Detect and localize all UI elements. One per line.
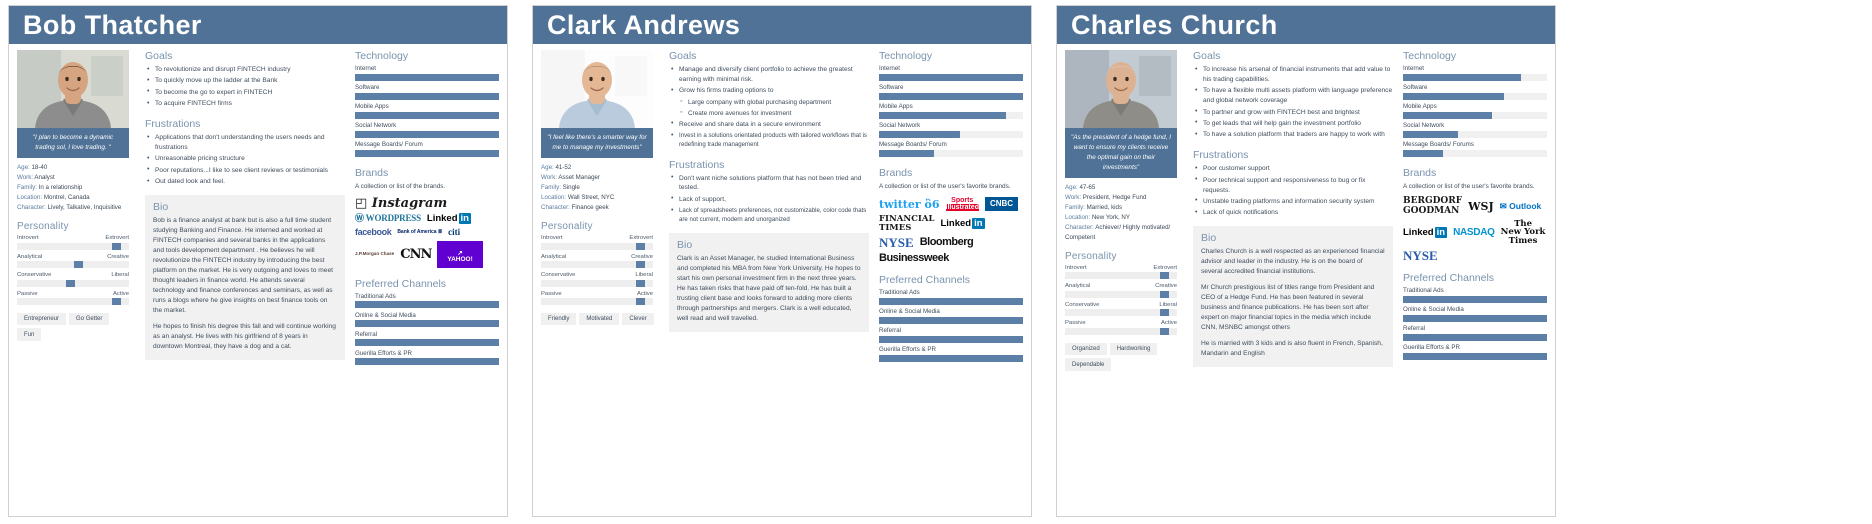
technology-meter-track xyxy=(355,74,499,81)
channel-meter: Guerilla Efforts & PR xyxy=(355,350,499,366)
channel-meter: Guerilla Efforts & PR xyxy=(879,346,1023,362)
channel-meter-track xyxy=(879,317,1023,324)
personality-left-label: Analytical xyxy=(541,254,566,260)
personality-trait[interactable]: PassiveActive xyxy=(1065,320,1177,335)
trait-tag[interactable]: Organized xyxy=(1065,343,1107,355)
goals-list-item: To have a flexible multi assets platform… xyxy=(1195,86,1393,106)
channel-meter-label: Traditional Ads xyxy=(355,293,499,300)
frustrations-list-item: Lack of spreadsheets preferences, not cu… xyxy=(671,206,869,224)
personality-track[interactable] xyxy=(1065,272,1177,279)
technology-meter-track xyxy=(1403,74,1547,81)
technology-meter-fill xyxy=(879,131,960,138)
persona-body: "As the president of a hedge fund, I wan… xyxy=(1057,44,1555,371)
personality-trait[interactable]: ConservativeLiberal xyxy=(1065,302,1177,317)
right-column: TechnologyInternetSoftwareMobile AppsSoc… xyxy=(1401,50,1547,371)
channel-meter-label: Guerilla Efforts & PR xyxy=(355,350,499,357)
personality-right-label: Liberal xyxy=(1159,302,1177,308)
brands-description: A collection or list of the user's favor… xyxy=(879,182,1023,192)
goals-list-item: To become the go to expert in FINTECH xyxy=(147,88,345,98)
section-title-bio: Bio xyxy=(1201,232,1385,244)
technology-meter: Mobile Apps xyxy=(1403,103,1547,119)
demographics-list: Age: 41-52Work: Asset ManagerFamily: Sin… xyxy=(541,163,659,213)
section-title-personality: Personality xyxy=(17,221,135,232)
channel-meter-track xyxy=(879,355,1023,362)
personality-trait[interactable]: IntrovertExtrovert xyxy=(541,235,653,250)
demographic-value: Wall Street, NYC xyxy=(568,194,615,201)
channel-meter-label: Referral xyxy=(879,327,1023,334)
brand-financialtimes: FINANCIALTIMES xyxy=(879,215,934,232)
personality-track[interactable] xyxy=(17,298,129,305)
trait-tag[interactable]: Clever xyxy=(622,313,653,325)
demographic-value: 47-65 xyxy=(1079,184,1095,191)
trait-tag[interactable]: Hardworking xyxy=(1110,343,1158,355)
personality-trait[interactable]: AnalyticalCreative xyxy=(17,254,129,269)
personality-trait-labels: AnalyticalCreative xyxy=(17,254,129,260)
channel-meter-label: Referral xyxy=(1403,325,1547,332)
channel-meter-fill xyxy=(879,317,1023,324)
section-title-technology: Technology xyxy=(1403,50,1547,62)
personality-left-label: Introvert xyxy=(1065,265,1087,271)
demographic-value: In a relationship xyxy=(39,184,83,191)
goals-list: To revolutionize and disrupt FINTECH ind… xyxy=(147,65,345,109)
channel-meter-track xyxy=(355,320,499,327)
technology-meter-label: Software xyxy=(879,84,1023,91)
persona-board: Bob Thatcher"I plan to become a dynamic … xyxy=(0,0,1872,524)
personality-trait-labels: ConservativeLiberal xyxy=(541,272,653,278)
demographic-key: Work: xyxy=(1065,194,1083,201)
frustrations-list-item: Out dated look and feel. xyxy=(147,177,345,187)
personality-knob[interactable] xyxy=(74,261,83,268)
demographic-value: Montrel, Canada xyxy=(44,194,90,201)
personality-track[interactable] xyxy=(17,280,129,287)
frustrations-list-item: Lack of support, xyxy=(671,195,869,205)
channel-meter: Guerilla Efforts & PR xyxy=(1403,344,1547,360)
personality-left-label: Passive xyxy=(17,291,38,297)
technology-meter-fill xyxy=(879,74,1023,81)
frustrations-list-item: Poor reputations...I like to see client … xyxy=(147,166,345,176)
technology-meter: Social Network xyxy=(1403,122,1547,138)
demographic-key: Family: xyxy=(17,184,39,191)
personality-trait-labels: IntrovertExtrovert xyxy=(541,235,653,241)
goals-list-item: To quickly move up the ladder at the Ban… xyxy=(147,76,345,86)
goals-list-item: To have a solution platform that traders… xyxy=(1195,130,1393,140)
section-title-brands: Brands xyxy=(1403,167,1547,179)
demographic-key: Character: xyxy=(1065,224,1095,231)
personality-right-label: Active xyxy=(1161,320,1177,326)
technology-meter-fill xyxy=(355,131,499,138)
trait-tag[interactable]: Dependable xyxy=(1065,358,1111,370)
demographic-key: Family: xyxy=(1065,204,1087,211)
demographic-key: Age: xyxy=(541,164,555,171)
channel-meter: Online & Social Media xyxy=(355,312,499,328)
brand-wsj: WSJ xyxy=(1468,201,1494,212)
persona-quote: "I plan to become a dynamic trading sol,… xyxy=(17,128,129,158)
brand-bergdorfgoodman: BERGDORFGOODMAN xyxy=(1403,197,1462,216)
channel-meter-label: Online & Social Media xyxy=(355,312,499,319)
bio-paragraph: Mr Church prestigious list of titles ran… xyxy=(1201,283,1385,333)
technology-meter-label: Software xyxy=(1403,84,1547,91)
technology-meter: Message Boards/ Forum xyxy=(355,141,499,157)
photo-illustration xyxy=(17,50,129,128)
technology-meter: Internet xyxy=(879,65,1023,81)
photo-illustration xyxy=(541,50,653,128)
technology-meter-fill xyxy=(879,93,1023,100)
personality-right-label: Active xyxy=(113,291,129,297)
bio-box: BioBob is a finance analyst at bank but … xyxy=(145,195,345,360)
technology-meter: Internet xyxy=(1403,65,1547,81)
brand-outlook: ✉ Outlook xyxy=(1500,202,1542,211)
personality-trait[interactable]: PassiveActive xyxy=(541,291,653,306)
demographic-value: 41-52 xyxy=(555,164,571,171)
personality-trait[interactable]: PassiveActive xyxy=(17,291,129,306)
channel-meter-track xyxy=(1403,315,1547,322)
brands-grid: ◰ InstagramⓌ WORDPRESSLinkedinfacebookBa… xyxy=(355,197,499,268)
personality-track[interactable] xyxy=(541,243,653,250)
persona-card-1: Bob Thatcher"I plan to become a dynamic … xyxy=(8,5,508,517)
channel-meter-label: Guerilla Efforts & PR xyxy=(879,346,1023,353)
demographic-row: Age: 18-40 xyxy=(17,163,135,173)
technology-meter-track xyxy=(355,131,499,138)
frustrations-list-item: Lack of quick notifications xyxy=(1195,208,1393,218)
brand-instagram: ◰ Instagram xyxy=(355,197,447,210)
demographic-value: President, Hedge Fund xyxy=(1083,194,1147,201)
personality-trait-labels: AnalyticalCreative xyxy=(1065,283,1177,289)
demographic-key: Character: xyxy=(541,204,572,211)
technology-meter-label: Message Boards/ Forum xyxy=(879,141,1023,148)
personality-knob[interactable] xyxy=(636,280,645,287)
personality-trait[interactable]: ConservativeLiberal xyxy=(17,272,129,287)
personality-left-label: Conservative xyxy=(1065,302,1099,308)
persona-quote: "I feel like there's a smarter way for m… xyxy=(541,128,653,158)
technology-meter: Message Boards/ Forum xyxy=(879,141,1023,157)
goals-list-item: To revolutionize and disrupt FINTECH ind… xyxy=(147,65,345,75)
personality-knob[interactable] xyxy=(1160,291,1169,298)
brand-yahoo: ↗YAHOO! xyxy=(437,241,482,268)
personality-trait[interactable]: ConservativeLiberal xyxy=(541,272,653,287)
personality-track[interactable] xyxy=(541,298,653,305)
personality-knob[interactable] xyxy=(636,298,645,305)
demographic-key: Location: xyxy=(541,194,568,201)
section-title-frustrations: Frustrations xyxy=(145,118,345,130)
section-title-technology: Technology xyxy=(879,50,1023,62)
personality-right-label: Creative xyxy=(107,254,129,260)
personality-knob[interactable] xyxy=(112,243,121,250)
personality-right-label: Extrovert xyxy=(105,235,129,241)
personality-knob[interactable] xyxy=(1160,309,1169,316)
trait-tag[interactable]: Motivated xyxy=(579,313,619,325)
demographic-value: Single xyxy=(563,184,580,191)
goals-list-item: Invest in a solutions orientated product… xyxy=(671,131,869,149)
channel-meter: Referral xyxy=(1403,325,1547,341)
personality-right-label: Liberal xyxy=(635,272,653,278)
technology-meter-label: Software xyxy=(355,84,499,91)
right-column: TechnologyInternetSoftwareMobile AppsSoc… xyxy=(877,50,1023,365)
channel-meter-label: Traditional Ads xyxy=(879,289,1023,296)
section-title-technology: Technology xyxy=(355,50,499,62)
trait-tag[interactable]: Fun xyxy=(17,328,41,340)
personality-right-label: Liberal xyxy=(111,272,129,278)
personality-left-label: Conservative xyxy=(541,272,575,278)
technology-meter-fill xyxy=(1403,131,1458,138)
personality-knob[interactable] xyxy=(636,261,645,268)
frustrations-list-item: Poor technical support and responsivenes… xyxy=(1195,176,1393,196)
personality-knob[interactable] xyxy=(636,243,645,250)
technology-meter: Internet xyxy=(355,65,499,81)
section-title-frustrations: Frustrations xyxy=(669,159,869,171)
technology-meter-track xyxy=(879,112,1023,119)
channel-meter: Referral xyxy=(355,331,499,347)
goals-list-item: Grow his firms trading options to xyxy=(671,86,869,96)
bio-box: BioClark is an Asset Manager, he studied… xyxy=(669,233,869,332)
technology-meter-fill xyxy=(355,93,499,100)
personality-left-label: Conservative xyxy=(17,272,51,278)
brand-cnn: CNN xyxy=(400,248,431,261)
personality-track[interactable] xyxy=(1065,328,1177,335)
frustrations-list-item: Don't want niche solutions platform that… xyxy=(671,174,869,194)
demographic-row: Family: Married, kids xyxy=(1065,203,1183,213)
persona-photo xyxy=(541,50,653,128)
persona-header: Bob Thatcher xyxy=(9,6,507,44)
frustrations-list-item: Unreasonable pricing structure xyxy=(147,154,345,164)
technology-meter-fill xyxy=(1403,93,1504,100)
personality-track[interactable] xyxy=(17,243,129,250)
demographic-value: Asset Manager xyxy=(558,174,600,181)
demographic-row: Age: 41-52 xyxy=(541,163,659,173)
persona-header: Charles Church xyxy=(1057,6,1555,44)
technology-meter-label: Mobile Apps xyxy=(1403,103,1547,110)
left-column: "I plan to become a dynamic trading sol,… xyxy=(17,50,135,369)
brand-sportsillustrated: SportsIllustrated xyxy=(946,197,979,211)
section-title-brands: Brands xyxy=(355,167,499,179)
section-title-personality: Personality xyxy=(541,221,659,232)
demographic-row: Age: 47-65 xyxy=(1065,183,1183,193)
brand-bloomberg: Bloomberg xyxy=(920,237,974,248)
personality-left-label: Analytical xyxy=(1065,283,1090,289)
left-column: "I feel like there's a smarter way for m… xyxy=(541,50,659,365)
demographic-row: Location: New York, NY xyxy=(1065,213,1183,223)
persona-body: "I plan to become a dynamic trading sol,… xyxy=(9,44,507,369)
personality-knob[interactable] xyxy=(1160,272,1169,279)
technology-meter: Social Network xyxy=(355,122,499,138)
channel-meter-track xyxy=(879,336,1023,343)
brand-nyse: NYSE xyxy=(879,236,914,249)
demographic-key: Work: xyxy=(541,174,558,181)
middle-column: GoalsManage and diversify client portfol… xyxy=(659,50,877,365)
section-title-personality: Personality xyxy=(1065,251,1183,262)
brand-cnbc: CNBC xyxy=(985,197,1018,211)
technology-meter-label: Internet xyxy=(355,65,499,72)
technology-meter-label: Mobile Apps xyxy=(879,103,1023,110)
channel-meter-track xyxy=(355,301,499,308)
channel-meter-track xyxy=(1403,296,1547,303)
frustrations-list: Applications that don't understanding th… xyxy=(147,133,345,187)
demographics-list: Age: 47-65Work: President, Hedge FundFam… xyxy=(1065,183,1183,243)
personality-track[interactable] xyxy=(1065,291,1177,298)
trait-tag[interactable]: Go Getter xyxy=(69,313,109,325)
section-title-preferred-channels: Preferred Channels xyxy=(355,278,499,290)
goals-list-item: To acquire FINTECH firms xyxy=(147,99,345,109)
personality-trait-labels: ConservativeLiberal xyxy=(1065,302,1177,308)
goals-list-item: Create more avenues for investment xyxy=(680,109,869,119)
personality-left-label: Passive xyxy=(1065,320,1086,326)
channel-meter-label: Online & Social Media xyxy=(1403,306,1547,313)
technology-meter-fill xyxy=(1403,74,1521,81)
demographic-value: Lively, Talkative, Inquisitive xyxy=(48,204,122,211)
personality-trait[interactable]: AnalyticalCreative xyxy=(1065,283,1177,298)
technology-meter-fill xyxy=(355,74,499,81)
channel-meter-fill xyxy=(355,320,499,327)
personality-trait-labels: AnalyticalCreative xyxy=(541,254,653,260)
personality-right-label: Active xyxy=(637,291,653,297)
technology-meter-track xyxy=(1403,150,1547,157)
demographic-key: Character: xyxy=(17,204,48,211)
brands-grid: BERGDORFGOODMANWSJ✉ OutlookLinkedinNASDA… xyxy=(1403,197,1547,262)
personality-track[interactable] xyxy=(541,280,653,287)
demographics-list: Age: 18-40Work: AnalystFamily: In a rela… xyxy=(17,163,135,213)
technology-meter-track xyxy=(355,93,499,100)
section-title-goals: Goals xyxy=(1193,50,1393,62)
left-column: "As the president of a hedge fund, I wan… xyxy=(1065,50,1183,371)
channel-meter-fill xyxy=(1403,315,1547,322)
goals-list: To increase his arsenal of financial ins… xyxy=(1195,65,1393,140)
channel-meter-track xyxy=(1403,353,1547,360)
technology-meter: Software xyxy=(1403,84,1547,100)
personality-trait[interactable]: AnalyticalCreative xyxy=(541,254,653,269)
personality-trait[interactable]: IntrovertExtrovert xyxy=(1065,265,1177,280)
bio-paragraph: Bob is a finance analyst at bank but is … xyxy=(153,216,337,316)
persona-body: "I feel like there's a smarter way for m… xyxy=(533,44,1031,365)
trait-tag[interactable]: Friendly xyxy=(541,313,576,325)
brands-description: A collection or list of the brands. xyxy=(355,182,499,192)
personality-left-label: Introvert xyxy=(541,235,563,241)
frustrations-list-item: Poor customer support xyxy=(1195,164,1393,174)
persona-photo xyxy=(17,50,129,128)
goals-list-item: To increase his arsenal of financial ins… xyxy=(1195,65,1393,85)
middle-column: GoalsTo increase his arsenal of financia… xyxy=(1183,50,1401,371)
demographic-value: New York, NY xyxy=(1092,214,1130,221)
technology-meter-label: Message Boards/ Forum xyxy=(355,141,499,148)
personality-knob[interactable] xyxy=(66,280,75,287)
persona-name: Bob Thatcher xyxy=(23,12,202,39)
technology-meter-label: Internet xyxy=(1403,65,1547,72)
personality-knob[interactable] xyxy=(112,298,121,305)
channel-meter-track xyxy=(355,339,499,346)
photo-illustration xyxy=(1065,50,1177,128)
goals-list-item: Large company with global purchasing dep… xyxy=(680,98,869,108)
channel-meter-fill xyxy=(879,298,1023,305)
brand-businessweek: Businessweek xyxy=(879,253,949,264)
demographic-key: Family: xyxy=(541,184,563,191)
personality-trait-labels: IntrovertExtrovert xyxy=(1065,265,1177,271)
channel-meter-track xyxy=(1403,334,1547,341)
technology-meter-label: Message Boards/ Forums xyxy=(1403,141,1547,148)
brand-linkedin: Linkedin xyxy=(427,214,471,224)
technology-meter-fill xyxy=(879,112,1006,119)
persona-name: Clark Andrews xyxy=(547,12,740,39)
technology-meter-label: Social Network xyxy=(355,122,499,129)
bio-paragraph: He hopes to finish his degree this fall … xyxy=(153,322,337,352)
personality-knob[interactable] xyxy=(1160,328,1169,335)
brand-linkedin: Linkedin xyxy=(940,219,984,229)
channel-meter-fill xyxy=(879,355,1023,362)
persona-card-2: Clark Andrews"I feel like there's a smar… xyxy=(532,5,1032,517)
technology-meter-track xyxy=(879,131,1023,138)
demographic-value: Analyst xyxy=(34,174,54,181)
demographic-value: Married, kids xyxy=(1087,204,1122,211)
personality-right-label: Extrovert xyxy=(1153,265,1177,271)
channel-meter-label: Online & Social Media xyxy=(879,308,1023,315)
trait-tag[interactable]: Entrepreneur xyxy=(17,313,66,325)
technology-meter-label: Internet xyxy=(879,65,1023,72)
channel-meter: Online & Social Media xyxy=(1403,306,1547,322)
brands-grid: twitter ὂ6SportsIllustratedCNBCFINANCIAL… xyxy=(879,197,1023,264)
technology-meter-track xyxy=(1403,131,1547,138)
brand-twitter: twitter ὂ6 xyxy=(879,199,940,210)
trait-tags: EntrepreneurGo GetterFun xyxy=(17,313,133,341)
channel-meter-track xyxy=(879,298,1023,305)
personality-trait-labels: PassiveActive xyxy=(17,291,129,297)
personality-track[interactable] xyxy=(17,261,129,268)
brand-nasdaq: NASDAQ xyxy=(1453,228,1495,238)
goals-list: Manage and diversify client portfolio to… xyxy=(671,65,869,150)
personality-right-label: Extrovert xyxy=(629,235,653,241)
demographic-row: Location: Montrel, Canada xyxy=(17,193,135,203)
bio-paragraph: He is married with 3 kids and is also fl… xyxy=(1201,339,1385,359)
frustrations-list-item: Unstable trading platforms and informati… xyxy=(1195,197,1393,207)
trait-tags: OrganizedHardworkingDependable xyxy=(1065,343,1181,371)
technology-meter-label: Social Network xyxy=(879,122,1023,129)
bio-paragraph: Charles Church is a well respected as an… xyxy=(1201,247,1385,277)
technology-meter-label: Mobile Apps xyxy=(355,103,499,110)
technology-meter-fill xyxy=(879,150,934,157)
demographic-key: Age: xyxy=(17,164,31,171)
channel-meter: Referral xyxy=(879,327,1023,343)
personality-trait-labels: PassiveActive xyxy=(541,291,653,297)
personality-left-label: Passive xyxy=(541,291,562,297)
personality-trait[interactable]: IntrovertExtrovert xyxy=(17,235,129,250)
technology-meter-track xyxy=(355,150,499,157)
channel-meter-track xyxy=(355,358,499,365)
personality-track[interactable] xyxy=(1065,309,1177,316)
demographic-row: Location: Wall Street, NYC xyxy=(541,193,659,203)
brand-bankofamerica: Bank of America ≣ xyxy=(397,230,442,235)
persona-header: Clark Andrews xyxy=(533,6,1031,44)
technology-meter: Software xyxy=(355,84,499,100)
demographic-row: Character: Lively, Talkative, Inquisitiv… xyxy=(17,203,135,213)
personality-trait-labels: ConservativeLiberal xyxy=(17,272,129,278)
channel-meter-label: Guerilla Efforts & PR xyxy=(1403,344,1547,351)
demographic-row: Work: Analyst xyxy=(17,173,135,183)
demographic-key: Age: xyxy=(1065,184,1079,191)
middle-column: GoalsTo revolutionize and disrupt FINTEC… xyxy=(135,50,353,369)
brand-newyorktimes: TheNew YorkTimes xyxy=(1501,220,1546,246)
technology-meter-track xyxy=(879,74,1023,81)
channel-meter-label: Traditional Ads xyxy=(1403,287,1547,294)
frustrations-list: Don't want niche solutions platform that… xyxy=(671,174,869,225)
brand-linkedin: Linkedin xyxy=(1403,228,1447,238)
brand-nyse: NYSE xyxy=(1403,249,1438,262)
demographic-value: 18-40 xyxy=(31,164,47,171)
demographic-key: Work: xyxy=(17,174,34,181)
brand-facebook: facebook xyxy=(355,228,391,237)
brand-citi: citi xyxy=(448,228,460,237)
demographic-key: Location: xyxy=(17,194,44,201)
demographic-key: Location: xyxy=(1065,214,1092,221)
persona-name: Charles Church xyxy=(1071,12,1278,39)
personality-track[interactable] xyxy=(541,261,653,268)
brand-jpmorgan: J.P.Morgan Chase xyxy=(355,252,394,257)
technology-meter-track xyxy=(879,150,1023,157)
